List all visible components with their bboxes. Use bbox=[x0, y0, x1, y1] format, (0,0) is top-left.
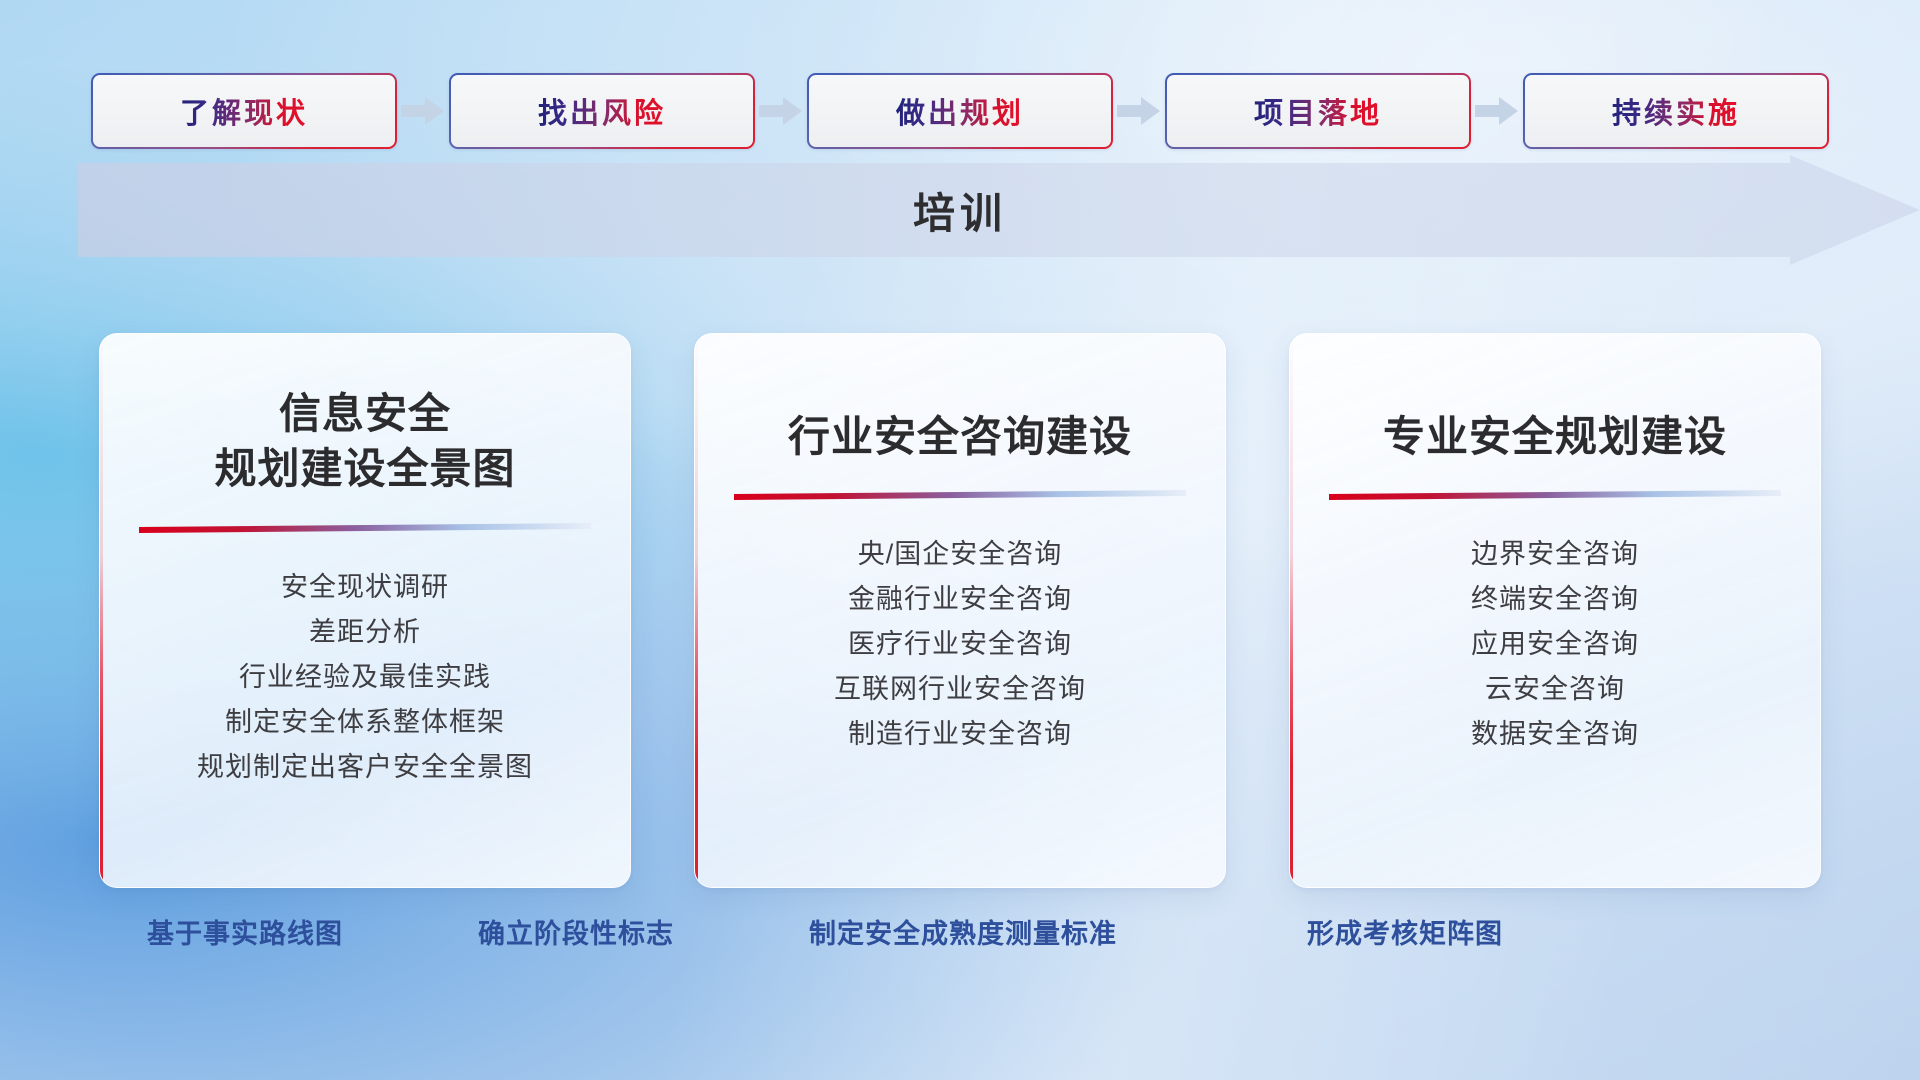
step-arrow-icon-3 bbox=[1113, 75, 1165, 147]
card-divider bbox=[734, 490, 1186, 502]
step-box-1[interactable]: 了解现状 bbox=[91, 73, 397, 149]
step-arrow-icon-4 bbox=[1471, 75, 1523, 147]
card-divider bbox=[1329, 490, 1781, 502]
step-arrow-icon-1 bbox=[397, 75, 449, 147]
list-item: 差距分析 bbox=[309, 610, 421, 655]
card-divider bbox=[139, 523, 591, 535]
step-arrow-icon-2 bbox=[755, 75, 807, 147]
step-label: 了解现状 bbox=[180, 90, 308, 132]
list-item: 行业经验及最佳实践 bbox=[239, 655, 491, 700]
list-item: 云安全咨询 bbox=[1485, 667, 1625, 712]
card-item-list: 央/国企安全咨询 金融行业安全咨询 医疗行业安全咨询 互联网行业安全咨询 制造行… bbox=[695, 532, 1225, 757]
step-label: 项目落地 bbox=[1254, 90, 1382, 132]
list-item: 边界安全咨询 bbox=[1471, 532, 1639, 577]
card-title: 专业安全规划建设 bbox=[1357, 409, 1753, 464]
service-card-3[interactable]: 专业安全规划建设 边界安全咨询 终端安全咨询 应用安全咨询 云安全咨询 数据安全… bbox=[1289, 333, 1821, 888]
service-card-2[interactable]: 行业安全咨询建设 央/国企安全咨询 金融行业安全咨询 医疗行业安全咨询 互联网行… bbox=[694, 333, 1226, 888]
card-left-accent bbox=[100, 334, 103, 887]
step-label: 持续实施 bbox=[1612, 90, 1740, 132]
process-step-row: 了解现状 找出风险 做出规划 项目落地 持续实施 bbox=[0, 72, 1920, 150]
step-box-2[interactable]: 找出风险 bbox=[449, 73, 755, 149]
footer-label-1: 基于事实路线图 bbox=[147, 912, 343, 951]
card-item-list: 边界安全咨询 终端安全咨询 应用安全咨询 云安全咨询 数据安全咨询 bbox=[1290, 532, 1820, 757]
list-item: 规划制定出客户安全全景图 bbox=[197, 745, 533, 790]
step-box-4[interactable]: 项目落地 bbox=[1165, 73, 1471, 149]
step-label: 找出风险 bbox=[538, 90, 666, 132]
service-card-row: 信息安全 规划建设全景图 安全现状调研 差距分析 行业经验及最佳实践 制定安全体… bbox=[0, 333, 1920, 886]
card-title: 行业安全咨询建设 bbox=[762, 409, 1158, 464]
list-item: 终端安全咨询 bbox=[1471, 577, 1639, 622]
training-band-label: 培训 bbox=[0, 155, 1920, 265]
footer-label-row: 基于事实路线图 确立阶段性标志 制定安全成熟度测量标准 形成考核矩阵图 bbox=[0, 912, 1920, 972]
step-label: 做出规划 bbox=[896, 90, 1024, 132]
list-item: 金融行业安全咨询 bbox=[848, 577, 1072, 622]
list-item: 应用安全咨询 bbox=[1471, 622, 1639, 667]
list-item: 医疗行业安全咨询 bbox=[848, 622, 1072, 667]
footer-label-2: 确立阶段性标志 bbox=[478, 912, 674, 951]
card-title: 信息安全 规划建设全景图 bbox=[188, 386, 541, 497]
card-item-list: 安全现状调研 差距分析 行业经验及最佳实践 制定安全体系整体框架 规划制定出客户… bbox=[100, 565, 630, 790]
step-box-3[interactable]: 做出规划 bbox=[807, 73, 1113, 149]
list-item: 安全现状调研 bbox=[281, 565, 449, 610]
list-item: 制造行业安全咨询 bbox=[848, 712, 1072, 757]
footer-label-4: 形成考核矩阵图 bbox=[1307, 912, 1503, 951]
list-item: 数据安全咨询 bbox=[1471, 712, 1639, 757]
list-item: 央/国企安全咨询 bbox=[858, 532, 1063, 577]
card-left-accent bbox=[1290, 334, 1293, 887]
footer-label-3: 制定安全成熟度测量标准 bbox=[809, 912, 1117, 951]
card-left-accent bbox=[695, 334, 698, 887]
step-box-5[interactable]: 持续实施 bbox=[1523, 73, 1829, 149]
list-item: 制定安全体系整体框架 bbox=[225, 700, 505, 745]
list-item: 互联网行业安全咨询 bbox=[834, 667, 1086, 712]
service-card-1[interactable]: 信息安全 规划建设全景图 安全现状调研 差距分析 行业经验及最佳实践 制定安全体… bbox=[99, 333, 631, 888]
